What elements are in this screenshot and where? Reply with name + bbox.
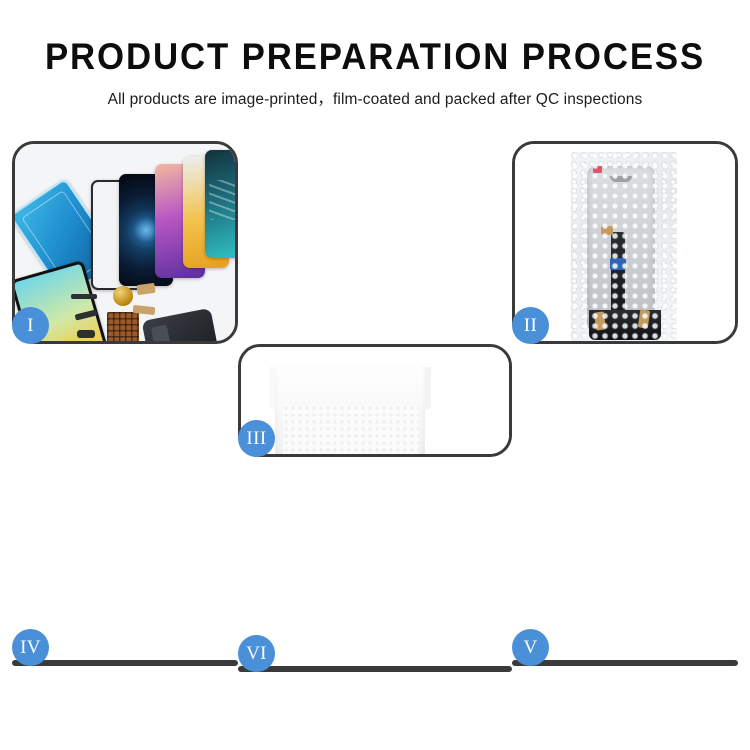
step-2-image	[515, 144, 735, 341]
step-1-image	[15, 144, 235, 341]
process-step-panel-5: V	[512, 660, 738, 666]
grid-gap	[12, 344, 238, 457]
grid-gap	[12, 666, 238, 672]
step-badge-4: IV	[12, 629, 49, 666]
process-step-panel-3: III	[238, 344, 512, 457]
grid-gap	[12, 457, 738, 660]
page-title: PRODUCT PREPARATION PROCESS	[23, 0, 728, 77]
bubble-wrapped-screen-photo	[515, 144, 735, 341]
vibrator-motor-part	[113, 286, 133, 306]
small-part-speaker	[71, 294, 97, 299]
step-3-image	[241, 347, 509, 454]
page-header: PRODUCT PREPARATION PROCESS All products…	[0, 0, 750, 109]
flex-cable-strip	[611, 232, 625, 320]
step-badge-5: V	[512, 629, 549, 666]
grid-gap	[238, 141, 512, 344]
product-preparation-page: PRODUCT PREPARATION PROCESS All products…	[0, 0, 750, 750]
chip-array-part	[107, 312, 139, 341]
connector-pad-top	[601, 226, 613, 235]
process-step-panel-1: I	[12, 141, 238, 344]
red-label-sticker	[593, 166, 602, 173]
open-tray-box-photo	[241, 347, 509, 454]
teal-gradient-phone	[205, 150, 235, 258]
phone-parts-photo	[15, 144, 235, 341]
page-subtitle: All products are image-printed，film-coat…	[0, 77, 750, 109]
step-badge-1: I	[12, 307, 49, 344]
white-foam-sheet	[283, 405, 419, 454]
step-badge-3: III	[238, 420, 275, 457]
step-badge-6: VI	[238, 635, 275, 672]
process-step-panel-2: II	[512, 141, 738, 344]
flex-cable-part-a	[136, 283, 155, 295]
step-badge-2: II	[512, 307, 549, 344]
screw-part-a	[219, 340, 224, 341]
process-steps-grid: I II	[12, 141, 738, 672]
process-step-panel-6: VI	[238, 666, 512, 672]
small-part-connector	[77, 330, 95, 338]
process-step-panel-4: Mobile Phone Spare Parts Mobile Phone Sp…	[12, 660, 238, 666]
